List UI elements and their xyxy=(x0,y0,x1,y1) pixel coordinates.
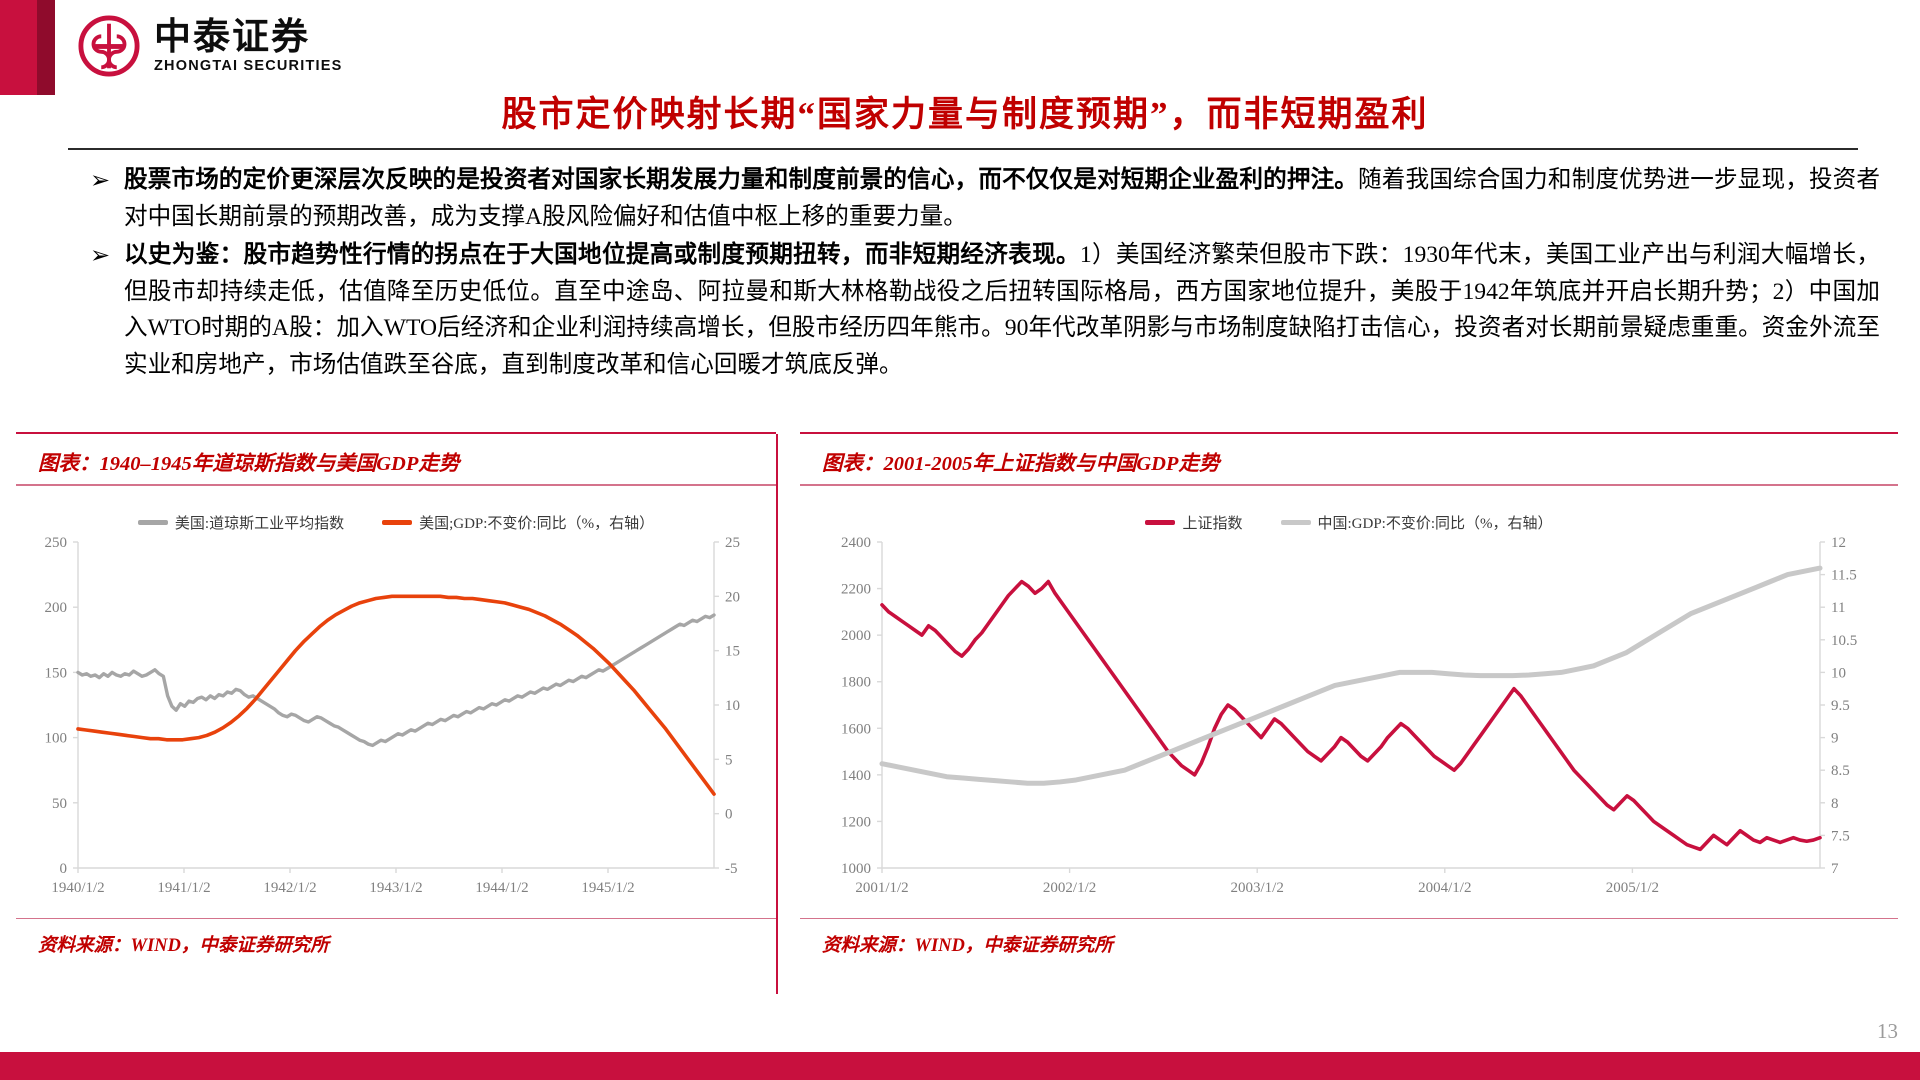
svg-text:9: 9 xyxy=(1831,730,1839,746)
svg-text:2005/1/2: 2005/1/2 xyxy=(1606,880,1659,896)
bullet-bold-text: 以史为鉴：股市趋势性行情的拐点在于大国地位提高或制度预期扭转，而非短期经济表现。 xyxy=(124,242,1080,268)
svg-text:2400: 2400 xyxy=(841,535,871,551)
legend-swatch-dow xyxy=(138,520,168,525)
svg-text:20: 20 xyxy=(725,589,740,605)
svg-text:7: 7 xyxy=(1831,861,1839,877)
chart-caption-left: 图表：1940–1945年道琼斯指数与美国GDP走势 xyxy=(16,434,776,484)
svg-text:11.5: 11.5 xyxy=(1831,567,1857,583)
svg-text:200: 200 xyxy=(45,600,68,616)
panel-vertical-divider xyxy=(776,434,778,994)
svg-text:8.5: 8.5 xyxy=(1831,763,1850,779)
legend-swatch-cn-gdp xyxy=(1281,520,1311,525)
title-divider xyxy=(68,148,1858,150)
svg-text:100: 100 xyxy=(45,730,68,746)
svg-text:1000: 1000 xyxy=(841,861,871,877)
svg-text:2000: 2000 xyxy=(841,628,871,644)
bullet-arrow-icon: ➢ xyxy=(90,162,124,198)
svg-text:10.5: 10.5 xyxy=(1831,632,1857,648)
svg-text:50: 50 xyxy=(52,795,67,811)
svg-text:25: 25 xyxy=(725,535,740,551)
svg-text:1600: 1600 xyxy=(841,721,871,737)
svg-text:1940/1/2: 1940/1/2 xyxy=(51,880,104,896)
svg-text:2004/1/2: 2004/1/2 xyxy=(1418,880,1471,896)
svg-text:12: 12 xyxy=(1831,535,1846,551)
svg-text:8: 8 xyxy=(1831,795,1839,811)
chart-right-legend: 上证指数 中国:GDP:不变价:同比（%，右轴） xyxy=(800,486,1898,533)
svg-text:10: 10 xyxy=(725,698,740,714)
bullet-bold-text: 股票市场的定价更深层次反映的是投资者对国家长期发展力量和制度前景的信心，而不仅仅… xyxy=(124,167,1358,193)
header-accent-bar-secondary xyxy=(37,0,55,95)
svg-text:2002/1/2: 2002/1/2 xyxy=(1043,880,1096,896)
chart-right-plot: 1000120014001600180020002200240077.588.5… xyxy=(800,530,1898,910)
svg-text:5: 5 xyxy=(725,752,733,768)
page-number: 13 xyxy=(1877,1019,1898,1044)
legend-swatch-us-gdp xyxy=(382,520,412,525)
svg-text:10: 10 xyxy=(1831,665,1846,681)
chart-left: 美国:道琼斯工业平均指数 美国;GDP:不变价:同比（%，右轴） 0501001… xyxy=(16,486,776,918)
chart-panel-right: 图表：2001-2005年上证指数与中国GDP走势 上证指数 中国:GDP:不变… xyxy=(800,432,1898,1032)
svg-text:2200: 2200 xyxy=(841,581,871,597)
svg-text:11: 11 xyxy=(1831,600,1845,616)
brand-logo: 中泰证券 ZHONGTAI SECURITIES xyxy=(78,15,342,77)
svg-text:-5: -5 xyxy=(725,861,738,877)
svg-text:1944/1/2: 1944/1/2 xyxy=(475,880,528,896)
bullet-arrow-icon: ➢ xyxy=(90,237,124,273)
chart-source-right: 资料来源：WIND，中泰证券研究所 xyxy=(800,919,1898,957)
svg-text:150: 150 xyxy=(45,665,68,681)
brand-name-en: ZHONGTAI SECURITIES xyxy=(154,59,342,74)
svg-text:15: 15 xyxy=(725,643,740,659)
legend-swatch-sse xyxy=(1145,520,1175,525)
page-title: 股市定价映射长期“国家力量与制度预期”，而非短期盈利 xyxy=(55,86,1875,137)
svg-text:1800: 1800 xyxy=(841,674,871,690)
bullet-item: ➢ 股票市场的定价更深层次反映的是投资者对国家长期发展力量和制度前景的信心，而不… xyxy=(90,162,1880,235)
svg-text:2001/1/2: 2001/1/2 xyxy=(855,880,908,896)
svg-text:7.5: 7.5 xyxy=(1831,828,1850,844)
bullet-item: ➢ 以史为鉴：股市趋势性行情的拐点在于大国地位提高或制度预期扭转，而非短期经济表… xyxy=(90,237,1880,383)
chart-left-plot: 050100150200250-505101520251940/1/21941/… xyxy=(16,530,776,910)
svg-text:1943/1/2: 1943/1/2 xyxy=(369,880,422,896)
svg-text:250: 250 xyxy=(45,535,68,551)
svg-text:9.5: 9.5 xyxy=(1831,698,1850,714)
svg-text:1400: 1400 xyxy=(841,767,871,783)
chart-right: 上证指数 中国:GDP:不变价:同比（%，右轴） 100012001400160… xyxy=(800,486,1898,918)
svg-text:1942/1/2: 1942/1/2 xyxy=(263,880,316,896)
svg-text:2003/1/2: 2003/1/2 xyxy=(1231,880,1284,896)
body-content: ➢ 股票市场的定价更深层次反映的是投资者对国家长期发展力量和制度前景的信心，而不… xyxy=(90,162,1880,385)
svg-text:1945/1/2: 1945/1/2 xyxy=(581,880,634,896)
chart-caption-right: 图表：2001-2005年上证指数与中国GDP走势 xyxy=(800,434,1898,484)
chart-panel-left: 图表：1940–1945年道琼斯指数与美国GDP走势 美国:道琼斯工业平均指数 … xyxy=(16,432,776,1032)
svg-text:1941/1/2: 1941/1/2 xyxy=(157,880,210,896)
svg-text:0: 0 xyxy=(725,806,733,822)
chart-source-left: 资料来源：WIND，中泰证券研究所 xyxy=(16,919,776,957)
svg-text:1200: 1200 xyxy=(841,814,871,830)
chart-left-legend: 美国:道琼斯工业平均指数 美国;GDP:不变价:同比（%，右轴） xyxy=(16,486,776,533)
brand-name-cn: 中泰证券 xyxy=(154,18,342,55)
header-accent-bar-primary xyxy=(0,0,37,95)
svg-text:0: 0 xyxy=(60,861,68,877)
footer-band xyxy=(0,1052,1920,1080)
zhongtai-logo-icon xyxy=(78,15,140,77)
